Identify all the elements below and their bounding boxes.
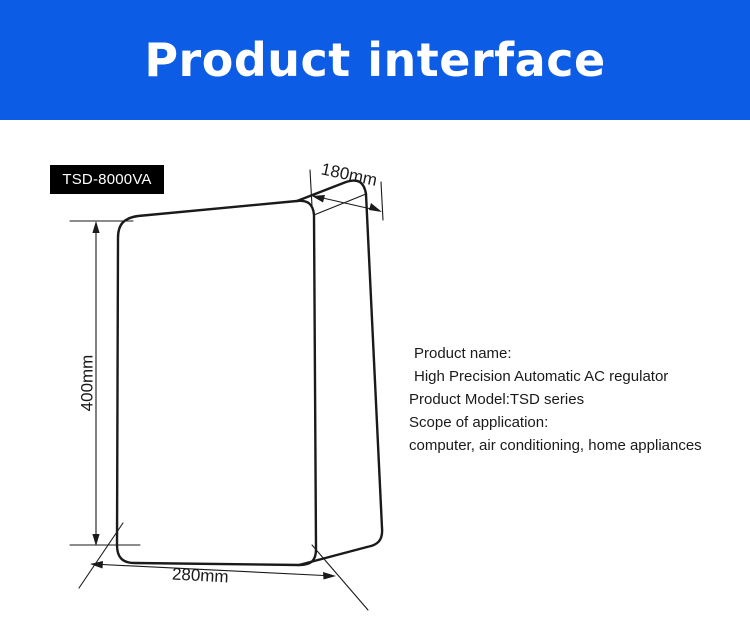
- spec-scope-value: computer, air conditioning, home applian…: [409, 434, 739, 457]
- enclosure-side-panel: [297, 181, 382, 566]
- enclosure-front-face: [117, 201, 316, 565]
- spec-product-name-value: High Precision Automatic AC regulator: [409, 365, 739, 388]
- width-arrow-right: [323, 572, 336, 580]
- model-number-badge: TSD-8000VA: [50, 165, 164, 194]
- width-dimension-label: 280mm: [171, 565, 229, 587]
- depth-dimension-label: 180mm: [319, 159, 378, 189]
- depth-arrow-right: [369, 203, 382, 212]
- page-title: Product interface: [144, 37, 605, 83]
- height-arrow-bottom: [92, 534, 99, 546]
- spec-product-name-label: Product name:: [409, 342, 739, 365]
- height-dimension-label: 400mm: [77, 355, 96, 412]
- product-diagram-area: 400mm 280mm 180mm Product name: High Pre…: [0, 120, 750, 633]
- model-number-label: TSD-8000VA: [62, 172, 151, 187]
- header-banner: Product interface: [0, 0, 750, 120]
- spec-scope-label: Scope of application:: [409, 411, 739, 434]
- depth-arrow-left: [312, 195, 325, 203]
- depth-extension-line-right: [381, 182, 383, 220]
- height-arrow-top: [92, 221, 99, 233]
- product-specification-block: Product name: High Precision Automatic A…: [409, 342, 739, 457]
- spec-product-model: Product Model:TSD series: [409, 388, 739, 411]
- depth-extension-line-left: [310, 170, 312, 206]
- width-extension-line-left: [79, 523, 123, 588]
